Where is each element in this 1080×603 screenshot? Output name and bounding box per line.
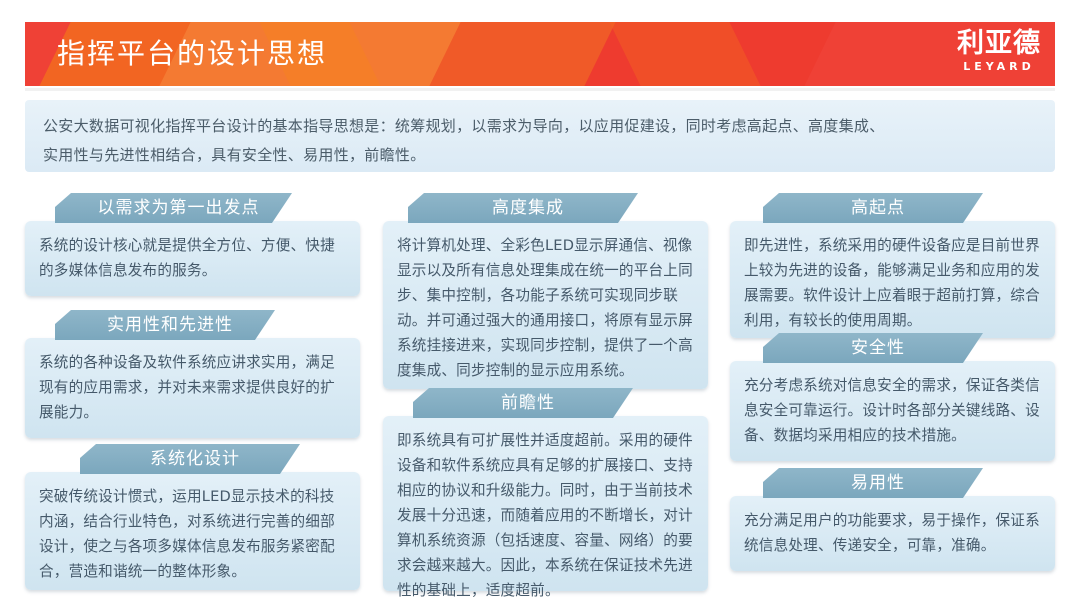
feature-card-body: 充分考虑系统对信息安全的需求，保证各类信息安全可靠运行。设计时各部分关键线路、设… xyxy=(730,361,1055,461)
feature-card[interactable]: 高度集成 将计算机处理、全彩色LED显示屏通信、视像显示以及所有信息处理集成在统… xyxy=(383,193,708,389)
feature-card-title: 易用性 xyxy=(763,468,983,498)
page-title: 指挥平台的设计思想 xyxy=(57,22,327,86)
feature-card-body: 突破传统设计惯式，运用LED显示技术的科技内涵，结合行业特色，对系统进行完善的细… xyxy=(25,472,360,590)
feature-card[interactable]: 易用性 充分满足用户的功能要求，易于操作，保证系统信息处理、传递安全，可靠，准确… xyxy=(730,468,1055,571)
feature-card[interactable]: 安全性 充分考虑系统对信息安全的需求，保证各类信息安全可靠运行。设计时各部分关键… xyxy=(730,333,1055,461)
feature-card-body: 将计算机处理、全彩色LED显示屏通信、视像显示以及所有信息处理集成在统一的平台上… xyxy=(383,221,708,389)
intro-panel: 公安大数据可视化指挥平台设计的基本指导思想是：统筹规划，以需求为导向，以应用促建… xyxy=(25,100,1055,172)
feature-card-body: 系统的设计核心就是提供全方位、方便、快捷的多媒体信息发布的服务。 xyxy=(25,221,360,296)
feature-card-title: 高度集成 xyxy=(408,193,638,223)
intro-line-2: 实用性与先进性相结合，具有安全性、易用性，前瞻性。 xyxy=(43,141,1037,170)
feature-card-title: 实用性和先进性 xyxy=(55,310,275,340)
feature-card-body: 系统的各种设备及软件系统应讲求实用，满足现有的应用需求，并对未来需求提供良好的扩… xyxy=(25,338,360,438)
intro-line-1: 公安大数据可视化指挥平台设计的基本指导思想是：统筹规划，以需求为导向，以应用促建… xyxy=(43,112,1037,141)
feature-card-title: 系统化设计 xyxy=(80,444,300,474)
header-divider xyxy=(25,88,1055,91)
feature-card[interactable]: 前瞻性 即系统具有可扩展性并适度超前。采用的硬件设备和软件系统应具有足够的扩展接… xyxy=(383,388,708,591)
feature-card-title: 高起点 xyxy=(763,193,983,223)
brand-name-en: LEYARD xyxy=(957,60,1041,74)
feature-card[interactable]: 以需求为第一出发点 系统的设计核心就是提供全方位、方便、快捷的多媒体信息发布的服… xyxy=(25,193,360,296)
brand-name-cn: 利亚德 xyxy=(957,28,1041,60)
feature-card-title: 以需求为第一出发点 xyxy=(55,193,292,223)
header-banner: 指挥平台的设计思想 利亚德 LEYARD xyxy=(25,22,1055,86)
feature-card-body: 即先进性，系统采用的硬件设备应是目前世界上较为先进的设备，能够满足业务和应用的发… xyxy=(730,221,1055,338)
feature-card[interactable]: 高起点 即先进性，系统采用的硬件设备应是目前世界上较为先进的设备，能够满足业务和… xyxy=(730,193,1055,338)
feature-card-title: 前瞻性 xyxy=(413,388,633,418)
feature-card-body: 充分满足用户的功能要求，易于操作，保证系统信息处理、传递安全，可靠，准确。 xyxy=(730,496,1055,571)
feature-card-body: 即系统具有可扩展性并适度超前。采用的硬件设备和软件系统应具有足够的扩展接口、支持… xyxy=(383,416,708,591)
feature-card[interactable]: 系统化设计 突破传统设计惯式，运用LED显示技术的科技内涵，结合行业特色，对系统… xyxy=(25,444,360,590)
brand-logo: 利亚德 LEYARD xyxy=(957,28,1041,74)
feature-card[interactable]: 实用性和先进性 系统的各种设备及软件系统应讲求实用，满足现有的应用需求，并对未来… xyxy=(25,310,360,438)
feature-card-title: 安全性 xyxy=(763,333,983,363)
